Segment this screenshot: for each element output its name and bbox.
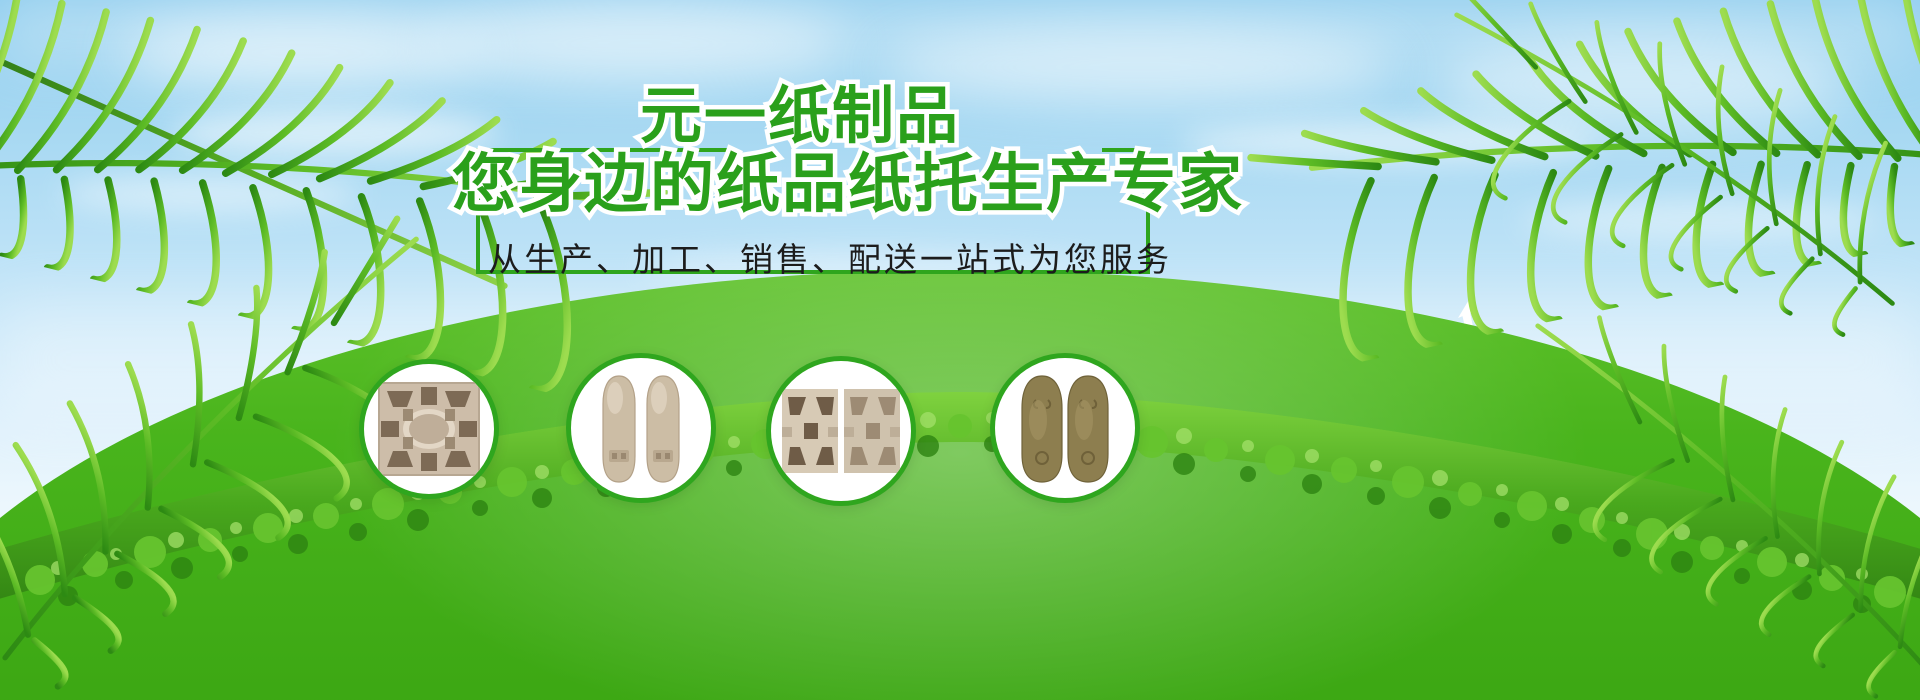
product-circle-3[interactable] <box>766 356 916 506</box>
promo-banner: 元一纸制品 您身边的纸品纸托生产专家 从生产、加工、销售、配送一站式为您服务 <box>0 0 1920 700</box>
product-circle-4[interactable] <box>990 353 1140 503</box>
molded-pulp-square-tray-icon <box>377 379 481 479</box>
subtitle: 从生产、加工、销售、配送一站式为您服务 <box>488 240 1172 280</box>
molded-pulp-shoe-tree-icon <box>589 370 693 486</box>
headline-line-2: 您身边的纸品纸托生产专家 <box>452 152 1244 216</box>
headline-line-1: 元一纸制品 <box>640 86 960 148</box>
product-circle-1[interactable] <box>359 359 499 499</box>
product-circle-2[interactable] <box>566 353 716 503</box>
molded-pulp-corner-pair-icon <box>782 389 900 473</box>
molded-pulp-shoe-insert-icon <box>1012 370 1118 486</box>
